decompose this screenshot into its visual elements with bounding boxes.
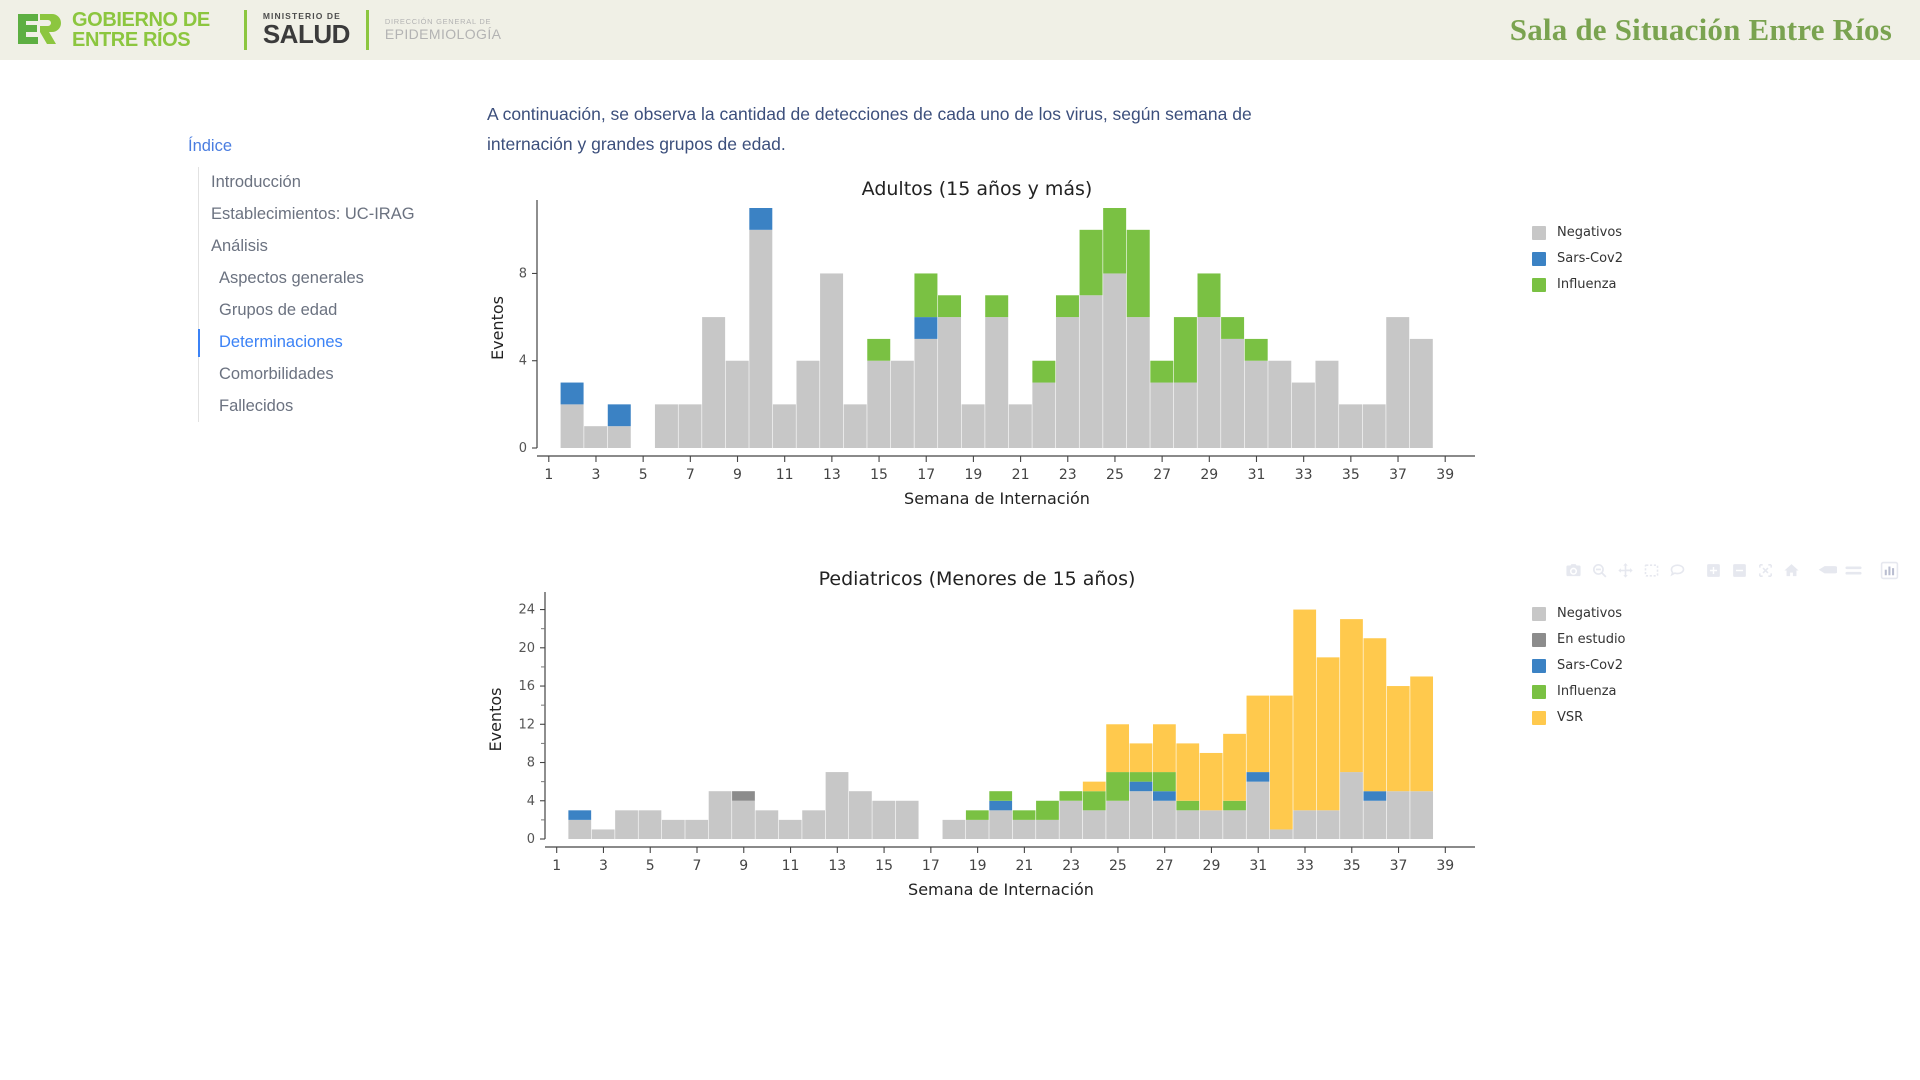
- bar-segment[interactable]: [985, 295, 1008, 317]
- x-tick-label: 39: [1436, 467, 1454, 483]
- x-tick-label: 23: [1062, 858, 1080, 874]
- toc-item-establecimientos-uc-irag[interactable]: Establecimientos: UC-IRAG: [199, 199, 488, 231]
- bar-segment[interactable]: [1363, 638, 1386, 791]
- bar-segment[interactable]: [773, 404, 796, 448]
- y-tick-label: 8: [527, 755, 535, 770]
- bar-segment[interactable]: [679, 404, 702, 448]
- bar-segment[interactable]: [1059, 791, 1082, 801]
- bar-segment[interactable]: [1106, 724, 1129, 772]
- bar-segment[interactable]: [732, 800, 755, 838]
- bar-segment[interactable]: [1036, 819, 1059, 838]
- zoom-in-icon[interactable]: [1702, 560, 1724, 582]
- bar-segment[interactable]: [1176, 800, 1199, 810]
- bar-segment[interactable]: [1340, 772, 1363, 839]
- plotly-logo-icon[interactable]: [1878, 560, 1900, 582]
- legend-swatch-icon: [1532, 252, 1546, 266]
- x-tick-label: 7: [693, 858, 702, 874]
- lasso-select-icon[interactable]: [1666, 560, 1688, 582]
- bar-segment[interactable]: [1153, 791, 1176, 801]
- bar-segment[interactable]: [655, 404, 678, 448]
- x-tick-label: 15: [870, 467, 888, 483]
- legend-pediatricos: NegativosEn estudioSars-Cov2InfluenzaVSR: [1532, 601, 1626, 731]
- bar-segment[interactable]: [1127, 229, 1150, 316]
- x-tick-label: 17: [922, 858, 940, 874]
- bar-segment[interactable]: [1080, 229, 1103, 294]
- bar-segment[interactable]: [615, 810, 638, 839]
- logo-divider-1: [244, 10, 247, 50]
- bar-segment[interactable]: [1130, 791, 1153, 839]
- bar-segment[interactable]: [1410, 791, 1433, 839]
- bar-segment[interactable]: [844, 404, 867, 448]
- x-tick-label: 11: [776, 467, 794, 483]
- y-tick-label: 0: [527, 832, 535, 847]
- box-select-icon[interactable]: [1640, 560, 1662, 582]
- bar-segment[interactable]: [1013, 819, 1036, 838]
- x-tick-label: 5: [639, 467, 648, 483]
- bar-segment[interactable]: [1339, 404, 1362, 448]
- site-header: GOBIERNO DE ENTRE RÍOS MINISTERIO DE SAL…: [0, 0, 1920, 60]
- x-tick-label: 1: [552, 858, 561, 874]
- bar-segment[interactable]: [1103, 273, 1126, 448]
- chart-pediatricos: Pediatricos (Menores de 15 años) 0481216…: [487, 568, 1887, 915]
- legend-label: En estudio: [1557, 632, 1626, 647]
- toc-list: IntroducciónEstablecimientos: UC-IRAGAná…: [198, 167, 488, 422]
- gov-wordmark: GOBIERNO DE ENTRE RÍOS: [72, 10, 210, 51]
- bar-segment[interactable]: [1032, 382, 1055, 447]
- bar-segment[interactable]: [1223, 733, 1246, 800]
- x-tick-label: 27: [1156, 858, 1174, 874]
- bar-segment[interactable]: [989, 810, 1012, 839]
- bar-segment[interactable]: [1410, 676, 1433, 791]
- bar-segment[interactable]: [561, 382, 584, 404]
- toc-item-comorbilidades[interactable]: Comorbilidades: [199, 359, 488, 391]
- chart-adultos: Adultos (15 años y más) 0481357911131517…: [487, 178, 1887, 520]
- plotly-modebar[interactable]: [1562, 560, 1900, 582]
- bar-segment[interactable]: [872, 800, 895, 838]
- bar-segment[interactable]: [914, 273, 937, 317]
- bar-segment[interactable]: [1083, 781, 1106, 791]
- bar-segment[interactable]: [989, 800, 1012, 810]
- x-tick-label: 29: [1203, 858, 1221, 874]
- x-tick-label: 25: [1106, 467, 1124, 483]
- bar-segment[interactable]: [1056, 295, 1079, 317]
- x-tick-label: 15: [875, 858, 893, 874]
- legend-label: Negativos: [1557, 225, 1622, 240]
- bar-segment[interactable]: [1200, 810, 1223, 839]
- bar-segment[interactable]: [1127, 317, 1150, 448]
- department-name: EPIDEMIOLOGÍA: [385, 26, 501, 42]
- bar-segment[interactable]: [1247, 772, 1270, 782]
- y-tick-label: 4: [519, 353, 527, 368]
- bar-segment[interactable]: [1198, 273, 1221, 317]
- bar-segment[interactable]: [1363, 791, 1386, 801]
- x-tick-label: 31: [1248, 467, 1266, 483]
- department-kicker: DIRECCIÓN GENERAL DE: [385, 18, 501, 27]
- x-tick-label: 33: [1295, 467, 1313, 483]
- legend-item-en-estudio[interactable]: En estudio: [1532, 627, 1626, 653]
- bar-segment[interactable]: [1153, 772, 1176, 791]
- bar-segment[interactable]: [662, 819, 685, 838]
- legend-label: Influenza: [1557, 277, 1617, 292]
- legend-adultos: NegativosSars-Cov2Influenza: [1532, 220, 1623, 298]
- y-tick-label: 0: [519, 441, 527, 456]
- x-tick-label: 19: [969, 858, 987, 874]
- legend-item-influenza[interactable]: Influenza: [1532, 272, 1623, 298]
- bar-segment[interactable]: [1009, 404, 1032, 448]
- plot-area-adultos[interactable]: 04813579111315171921232527293133353739Se…: [487, 200, 1887, 520]
- bar-segment[interactable]: [1130, 772, 1153, 782]
- legend-swatch-icon: [1532, 659, 1546, 673]
- toc-item-grupos-de-edad[interactable]: Grupos de edad: [199, 295, 488, 327]
- y-tick-label: 12: [518, 717, 535, 732]
- bar-segment[interactable]: [568, 819, 591, 838]
- bar-segment[interactable]: [592, 829, 615, 839]
- bar-segment[interactable]: [755, 810, 778, 839]
- bar-segment[interactable]: [568, 810, 591, 820]
- bar-segment[interactable]: [1247, 781, 1270, 838]
- legend-item-influenza[interactable]: Influenza: [1532, 679, 1626, 705]
- bar-segment[interactable]: [1245, 360, 1268, 447]
- x-tick-label: 37: [1389, 467, 1407, 483]
- x-tick-label: 27: [1153, 467, 1171, 483]
- x-tick-label: 9: [733, 467, 742, 483]
- bar-segment[interactable]: [1153, 724, 1176, 772]
- chart-title-adultos: Adultos (15 años y más): [487, 178, 1467, 200]
- gov-line-2: ENTRE RÍOS: [72, 30, 210, 50]
- x-tick-label: 19: [964, 467, 982, 483]
- y-tick-label: 8: [519, 266, 527, 281]
- zoom-out-icon[interactable]: [1728, 560, 1750, 582]
- toggle-spike-lines-icon[interactable]: [1816, 560, 1838, 582]
- legend-item-negativos[interactable]: Negativos: [1532, 601, 1626, 627]
- bar-segment[interactable]: [989, 791, 1012, 801]
- bar-segment[interactable]: [867, 338, 890, 360]
- bar-segment[interactable]: [938, 317, 961, 448]
- bar-segment[interactable]: [1036, 800, 1059, 819]
- bar-segment[interactable]: [749, 229, 772, 447]
- x-tick-label: 33: [1296, 858, 1314, 874]
- gov-line-1: GOBIERNO DE: [72, 10, 210, 30]
- bar-segment[interactable]: [1223, 810, 1246, 839]
- x-tick-label: 1: [544, 467, 553, 483]
- bar-segment[interactable]: [1080, 295, 1103, 448]
- intro-paragraph: A continuación, se observa la cantidad d…: [487, 100, 1317, 160]
- legend-swatch-icon: [1532, 278, 1546, 292]
- x-tick-label: 21: [1015, 858, 1033, 874]
- legend-swatch-icon: [1532, 607, 1546, 621]
- x-tick-label: 23: [1059, 467, 1077, 483]
- x-tick-label: 5: [646, 858, 655, 874]
- bar-segment[interactable]: [1174, 382, 1197, 447]
- bar-segment[interactable]: [896, 800, 919, 838]
- bar-segment[interactable]: [726, 360, 749, 447]
- bar-segment[interactable]: [1013, 810, 1036, 820]
- x-tick-label: 13: [823, 467, 841, 483]
- bar-segment[interactable]: [891, 360, 914, 447]
- bar-segment[interactable]: [1293, 810, 1316, 839]
- toc-item-an-lisis[interactable]: Análisis: [199, 231, 488, 263]
- reset-axes-icon[interactable]: [1780, 560, 1802, 582]
- legend-label: Sars-Cov2: [1557, 658, 1623, 673]
- bar-segment[interactable]: [1150, 382, 1173, 447]
- x-tick-label: 39: [1436, 858, 1454, 874]
- x-tick-label: 37: [1390, 858, 1408, 874]
- bar-segment[interactable]: [608, 404, 631, 426]
- legend-swatch-icon: [1532, 633, 1546, 647]
- bar-segment[interactable]: [966, 810, 989, 820]
- bar-segment[interactable]: [985, 317, 1008, 448]
- legend-label: Negativos: [1557, 606, 1622, 621]
- bar-segment[interactable]: [1223, 800, 1246, 810]
- bar-segment[interactable]: [1247, 695, 1270, 771]
- bar-segment[interactable]: [1292, 382, 1315, 447]
- bar-segment[interactable]: [1103, 208, 1126, 273]
- bar-segment[interactable]: [1315, 360, 1338, 447]
- y-tick-label: 24: [518, 602, 535, 617]
- bar-segment[interactable]: [1245, 338, 1268, 360]
- x-tick-label: 29: [1200, 467, 1218, 483]
- bar-segment[interactable]: [1176, 810, 1199, 839]
- legend-label: Sars-Cov2: [1557, 251, 1623, 266]
- bar-segment[interactable]: [938, 295, 961, 317]
- bar-segment[interactable]: [685, 819, 708, 838]
- legend-label: VSR: [1557, 710, 1583, 725]
- bar-segment[interactable]: [1363, 404, 1386, 448]
- y-axis-title: Eventos: [488, 296, 507, 360]
- bar-segment[interactable]: [1387, 686, 1410, 791]
- bar-segment[interactable]: [1221, 338, 1244, 447]
- bar-segment[interactable]: [1386, 317, 1409, 448]
- bar-segment[interactable]: [1032, 360, 1055, 382]
- logo-group: GOBIERNO DE ENTRE RÍOS MINISTERIO DE SAL…: [0, 10, 501, 51]
- bar-segment[interactable]: [1130, 781, 1153, 791]
- x-axis-title: Semana de Internación: [904, 489, 1090, 508]
- bar-segment[interactable]: [826, 772, 849, 839]
- x-tick-label: 35: [1342, 467, 1360, 483]
- bar-segment[interactable]: [639, 810, 662, 839]
- legend-label: Influenza: [1557, 684, 1617, 699]
- bar-segment[interactable]: [749, 208, 772, 230]
- bar-segment[interactable]: [709, 791, 732, 839]
- autoscale-icon[interactable]: [1754, 560, 1776, 582]
- toc-item-introducci-n[interactable]: Introducción: [199, 167, 488, 199]
- bar-segment[interactable]: [914, 317, 937, 339]
- department-wordmark: DIRECCIÓN GENERAL DE EPIDEMIOLOGÍA: [385, 18, 501, 43]
- bar-segment[interactable]: [1056, 317, 1079, 448]
- legend-item-negativos[interactable]: Negativos: [1532, 220, 1623, 246]
- y-axis-title: Eventos: [487, 687, 505, 751]
- bar-segment[interactable]: [1410, 338, 1433, 447]
- bar-segment[interactable]: [867, 360, 890, 447]
- logo-divider-2: [366, 10, 369, 50]
- bar-segment[interactable]: [914, 338, 937, 447]
- bar-segment[interactable]: [1293, 609, 1316, 810]
- y-tick-label: 16: [518, 679, 535, 694]
- legend-item-vsr[interactable]: VSR: [1532, 705, 1626, 731]
- x-tick-label: 35: [1343, 858, 1361, 874]
- zoom-icon[interactable]: [1588, 560, 1610, 582]
- ministry-wordmark: MINISTERIO DE SALUD: [263, 12, 350, 48]
- x-tick-label: 3: [592, 467, 601, 483]
- bar-segment[interactable]: [802, 810, 825, 839]
- bar-segment[interactable]: [1200, 752, 1223, 809]
- toc-sidebar: Índice IntroducciónEstablecimientos: UC-…: [188, 135, 488, 422]
- legend-item-sars-cov2[interactable]: Sars-Cov2: [1532, 653, 1626, 679]
- bar-segment[interactable]: [1153, 800, 1176, 838]
- x-tick-label: 3: [599, 858, 608, 874]
- hover-compare-icon[interactable]: [1842, 560, 1864, 582]
- bar-segment[interactable]: [561, 404, 584, 448]
- bar-segment[interactable]: [1317, 657, 1340, 810]
- x-tick-label: 13: [828, 858, 846, 874]
- bar-segment[interactable]: [1363, 800, 1386, 838]
- toc-item-determinaciones[interactable]: Determinaciones: [199, 327, 488, 359]
- legend-item-sars-cov2[interactable]: Sars-Cov2: [1532, 246, 1623, 272]
- x-tick-label: 31: [1249, 858, 1267, 874]
- bar-segment[interactable]: [1317, 810, 1340, 839]
- toc-item-aspectos-generales[interactable]: Aspectos generales: [199, 263, 488, 295]
- bar-segment[interactable]: [1387, 791, 1410, 839]
- camera-icon[interactable]: [1562, 560, 1584, 582]
- pan-icon[interactable]: [1614, 560, 1636, 582]
- y-tick-label: 20: [518, 640, 535, 655]
- bar-segment[interactable]: [779, 819, 802, 838]
- bar-segment[interactable]: [1270, 695, 1293, 829]
- legend-swatch-icon: [1532, 711, 1546, 725]
- site-title: Sala de Situación Entre Ríos: [1510, 12, 1892, 48]
- bar-segment[interactable]: [1198, 317, 1221, 448]
- x-tick-label: 17: [917, 467, 935, 483]
- bar-segment[interactable]: [1059, 800, 1082, 838]
- entre-rios-logo-icon: [16, 10, 64, 50]
- bar-segment[interactable]: [1340, 619, 1363, 772]
- bar-segment[interactable]: [702, 317, 725, 448]
- y-tick-label: 4: [527, 793, 535, 808]
- main-content: A continuación, se observa la cantidad d…: [487, 100, 1887, 915]
- bar-segment[interactable]: [966, 819, 989, 838]
- bar-segment[interactable]: [943, 819, 966, 838]
- bar-segment[interactable]: [1270, 829, 1293, 839]
- bar-segment[interactable]: [849, 791, 872, 839]
- legend-swatch-icon: [1532, 685, 1546, 699]
- bar-segment[interactable]: [1150, 360, 1173, 382]
- bar-segment[interactable]: [796, 360, 819, 447]
- x-tick-label: 21: [1012, 467, 1030, 483]
- bar-segment[interactable]: [1130, 743, 1153, 772]
- plot-area-pediatricos[interactable]: 0481216202413579111315171921232527293133…: [487, 590, 1887, 915]
- bar-segment[interactable]: [732, 791, 755, 801]
- bar-segment[interactable]: [1083, 810, 1106, 839]
- bar-segment[interactable]: [1268, 360, 1291, 447]
- bar-segment[interactable]: [608, 426, 631, 448]
- x-tick-label: 25: [1109, 858, 1127, 874]
- x-tick-label: 7: [686, 467, 695, 483]
- ministry-name: SALUD: [263, 21, 350, 48]
- bar-segment[interactable]: [962, 404, 985, 448]
- bar-segment[interactable]: [1083, 791, 1106, 810]
- toc-title[interactable]: Índice: [188, 135, 488, 158]
- bar-segment[interactable]: [1106, 772, 1129, 801]
- bar-segment[interactable]: [584, 426, 607, 448]
- bar-segment[interactable]: [1176, 743, 1199, 800]
- toc-item-fallecidos[interactable]: Fallecidos: [199, 391, 488, 423]
- x-tick-label: 11: [782, 858, 800, 874]
- x-axis-title: Semana de Internación: [908, 880, 1094, 899]
- bar-segment[interactable]: [1221, 317, 1244, 339]
- bar-segment[interactable]: [820, 273, 843, 448]
- bar-segment[interactable]: [1174, 317, 1197, 382]
- bar-segment[interactable]: [1106, 800, 1129, 838]
- legend-swatch-icon: [1532, 226, 1546, 240]
- chart-title-pediatricos: Pediatricos (Menores de 15 años): [487, 568, 1467, 590]
- x-tick-label: 9: [739, 858, 748, 874]
